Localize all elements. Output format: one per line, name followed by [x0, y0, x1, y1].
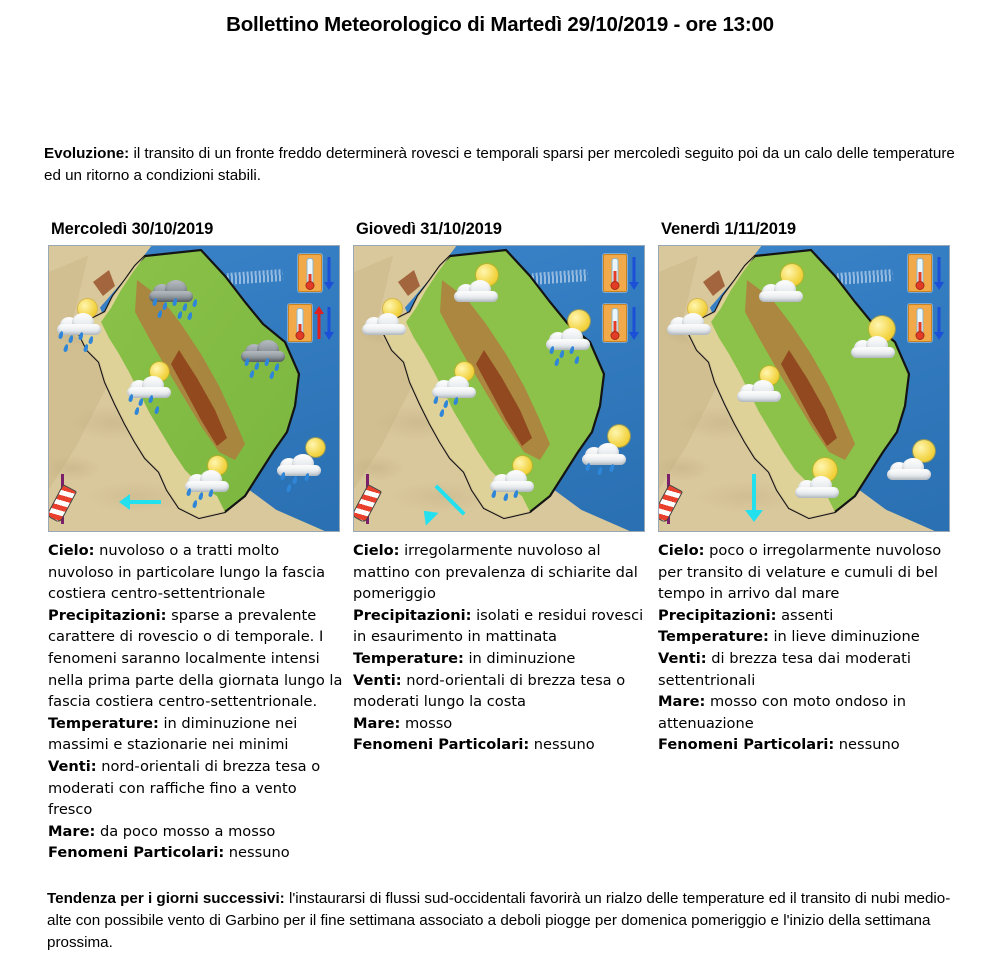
forecast-label-mare: Mare:	[658, 693, 705, 710]
cloud-icon	[667, 313, 711, 335]
forecast-label-temperature: Temperature:	[48, 715, 159, 732]
max-temperature-indicator	[603, 254, 638, 292]
forecast-label-precipitazioni: Precipitazioni:	[353, 607, 471, 624]
thermometer-bulb	[611, 331, 620, 340]
forecast-label-precipitazioni: Precipitazioni:	[658, 607, 776, 624]
forecast-label-venti: Venti:	[48, 758, 97, 775]
windsock-icon	[55, 474, 101, 526]
raindrops-icon	[548, 346, 608, 372]
thermometer-bulb	[916, 281, 925, 290]
weather-icon-rain	[490, 458, 536, 498]
arrow-down-icon	[629, 255, 638, 291]
weather-icon-rain	[57, 301, 103, 341]
wind-direction-arrow-northeast	[424, 478, 472, 526]
weather-icon-rain	[546, 316, 592, 356]
forecast-label-fenomeni: Fenomeni Particolari:	[353, 736, 529, 753]
forecast-label-precipitazioni: Precipitazioni:	[48, 607, 166, 624]
forecast-label-mare: Mare:	[48, 823, 95, 840]
cloud-icon	[795, 476, 839, 498]
forecast-value-temperature: in lieve diminuzione	[769, 628, 920, 645]
weather-icon-rain	[241, 328, 287, 368]
forecast-label-temperature: Temperature:	[658, 628, 769, 645]
raindrops-icon	[432, 394, 492, 420]
raindrops-icon	[127, 394, 187, 420]
min-temperature-indicator	[908, 304, 943, 342]
day-column-3: Venerdì 1/11/2019	[658, 220, 958, 756]
forecast-text-2: Cielo: irregolarmente nuvoloso al mattin…	[353, 540, 648, 756]
weather-icon-rain	[432, 364, 478, 404]
forecast-value-fenomeni: nessuno	[224, 844, 290, 861]
raindrops-icon	[151, 298, 211, 324]
forecast-label-cielo: Cielo:	[658, 542, 704, 559]
cloud-icon	[737, 380, 781, 402]
raindrops-icon	[243, 358, 303, 384]
thermometer-icon	[288, 304, 312, 342]
arrow-down-icon	[934, 255, 943, 291]
raindrops-icon	[185, 488, 245, 514]
day-column-1: Mercoledì 30/10/2019	[48, 220, 348, 864]
arrow-up-icon	[314, 305, 323, 341]
evoluzione-label: Evoluzione:	[44, 145, 129, 162]
windsock-sleeve	[658, 484, 683, 523]
forecast-label-cielo: Cielo:	[48, 542, 94, 559]
min-temperature-indicator	[288, 304, 333, 342]
forecast-map-3	[658, 245, 950, 532]
weather-icon-fair	[887, 446, 933, 486]
weather-icon-fair	[362, 301, 408, 341]
forecast-label-mare: Mare:	[353, 715, 400, 732]
day-title-3: Venerdì 1/11/2019	[661, 220, 958, 239]
arrow-down-icon	[629, 305, 638, 341]
day-title-1: Mercoledì 30/10/2019	[51, 220, 348, 239]
forecast-map-1	[48, 245, 340, 532]
forecast-map-2	[353, 245, 645, 532]
weather-icon-rain	[582, 431, 628, 471]
weather-icon-fair	[851, 324, 897, 364]
thermometer-bulb	[611, 281, 620, 290]
forecast-value-precipitazioni: assenti	[776, 607, 833, 624]
thermometer-icon	[603, 254, 627, 292]
raindrops-icon	[490, 488, 550, 514]
min-temperature-indicator	[603, 304, 638, 342]
raindrops-icon	[277, 472, 337, 498]
weather-icon-fair	[737, 368, 783, 408]
weather-icon-fair	[795, 464, 841, 504]
cloud-icon	[454, 280, 498, 302]
day-column-2: Giovedì 31/10/2019	[353, 220, 653, 756]
forecast-label-cielo: Cielo:	[353, 542, 399, 559]
forecast-label-fenomeni: Fenomeni Particolari:	[48, 844, 224, 861]
forecast-label-venti: Venti:	[353, 672, 402, 689]
cloud-icon	[362, 313, 406, 335]
forecast-value-mare: da poco mosso a mosso	[95, 823, 275, 840]
tendenza-label: Tendenza per i giorni successivi:	[47, 890, 285, 907]
forecast-value-fenomeni: nessuno	[834, 736, 900, 753]
weather-icon-fair	[759, 268, 805, 308]
weather-icon-rain	[149, 268, 195, 308]
evoluzione-paragraph: Evoluzione: il transito di un fronte fre…	[44, 143, 960, 187]
weather-icon-rain	[185, 458, 231, 498]
tendenza-paragraph: Tendenza per i giorni successivi: l'inst…	[47, 888, 955, 954]
weather-icon-fair	[454, 268, 500, 308]
cloud-icon	[887, 458, 931, 480]
thermometer-bulb	[306, 281, 315, 290]
bulletin-page: Bollettino Meteorologico di Martedì 29/1…	[0, 0, 1000, 976]
arrow-down-icon	[324, 305, 333, 341]
arrow-down-icon	[934, 305, 943, 341]
page-title: Bollettino Meteorologico di Martedì 29/1…	[0, 13, 1000, 37]
thermometer-icon	[298, 254, 322, 292]
day-title-2: Giovedì 31/10/2019	[356, 220, 653, 239]
cloud-icon	[851, 336, 895, 358]
max-temperature-indicator	[298, 254, 333, 292]
forecast-label-fenomeni: Fenomeni Particolari:	[658, 736, 834, 753]
weather-icon-fair	[667, 301, 713, 341]
wind-direction-arrow-west	[119, 492, 161, 512]
weather-icon-rain	[277, 442, 323, 482]
thermometer-bulb	[916, 331, 925, 340]
forecast-text-1: Cielo: nuvoloso o a tratti molto nuvolos…	[48, 540, 343, 864]
thermometer-icon	[908, 254, 932, 292]
forecast-value-temperature: in diminuzione	[464, 650, 576, 667]
evoluzione-text: il transito di un fronte freddo determin…	[44, 145, 955, 184]
thermometer-icon	[908, 304, 932, 342]
raindrops-icon	[57, 331, 117, 357]
arrow-down-icon	[324, 255, 333, 291]
thermometer-icon	[603, 304, 627, 342]
forecast-text-3: Cielo: poco o irregolarmente nuvoloso pe…	[658, 540, 953, 756]
cloud-icon	[759, 280, 803, 302]
wind-direction-arrow-north	[743, 474, 767, 526]
forecast-label-temperature: Temperature:	[353, 650, 464, 667]
windsock-icon	[661, 474, 707, 526]
windsock-icon	[360, 474, 406, 526]
forecast-value-fenomeni: nessuno	[529, 736, 595, 753]
forecast-label-venti: Venti:	[658, 650, 707, 667]
thermometer-bulb	[296, 331, 305, 340]
forecast-value-mare: mosso	[400, 715, 452, 732]
max-temperature-indicator	[908, 254, 943, 292]
weather-icon-rain	[127, 364, 173, 404]
raindrops-icon	[582, 461, 642, 487]
